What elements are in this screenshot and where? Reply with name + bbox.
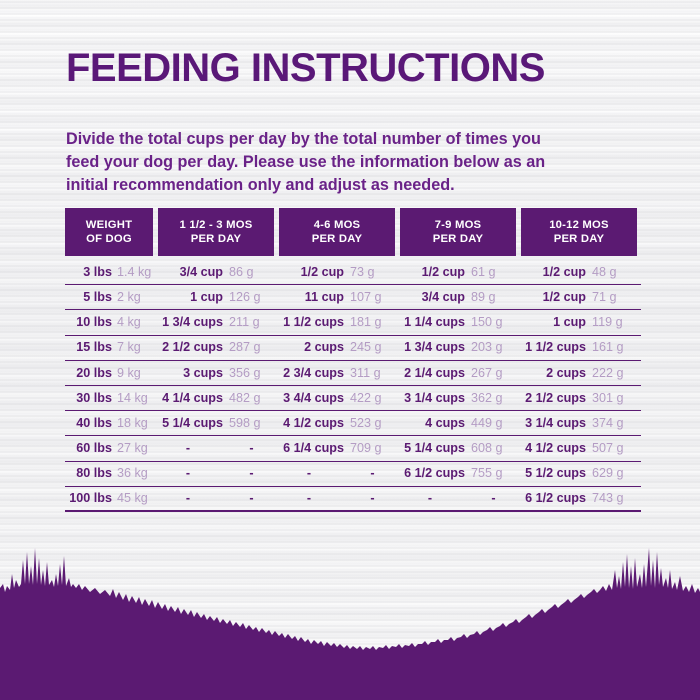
cell-grams-col2: 523 g [350, 417, 395, 430]
header-line-2: OF DOG [86, 232, 132, 246]
cell-grams-col3: 449 g [471, 417, 516, 430]
cell-cups-col4: 3 1/4 cups [516, 417, 592, 430]
cell-grams-col4: 743 g [592, 492, 637, 505]
cell-cups-col3: 4 cups [395, 417, 471, 430]
cell-weight-kg: 14 kg [117, 392, 153, 405]
cell-weight-kg: 1.4 kg [117, 266, 153, 279]
cell-cups-col3: 6 1/2 cups [395, 467, 471, 480]
cell-cups-col1: 1 cup [153, 291, 229, 304]
cell-grams-col1: 211 g [229, 316, 274, 329]
cell-cups-col4: 1 1/2 cups [516, 341, 592, 354]
feeding-instructions-page: FEEDING INSTRUCTIONS Divide the total cu… [0, 0, 700, 700]
cell-grams-col2: 422 g [350, 392, 395, 405]
cell-cups-col4: 1/2 cup [516, 291, 592, 304]
cell-weight-lbs: 10 lbs [65, 316, 117, 329]
cell-cups-col3: 1/2 cup [395, 266, 471, 279]
cell-cups-col4: 1/2 cup [516, 266, 592, 279]
cell-grams-col4: 222 g [592, 367, 637, 380]
table-header-weight: WEIGHT OF DOG [65, 208, 153, 256]
cell-grams-col4: 71 g [592, 291, 637, 304]
cell-grams-col4: 301 g [592, 392, 637, 405]
cell-grams-col1: - [229, 442, 274, 455]
cell-grams-col1: 126 g [229, 291, 274, 304]
table-row: 30 lbs14 kg4 1/4 cups482 g3 4/4 cups422 … [65, 386, 641, 411]
cell-cups-col4: 4 1/2 cups [516, 442, 592, 455]
table-row: 15 lbs7 kg2 1/2 cups287 g2 cups245 g1 3/… [65, 336, 641, 361]
header-line-2: PER DAY [191, 232, 242, 246]
cell-grams-col3: 89 g [471, 291, 516, 304]
cell-grams-col3: 150 g [471, 316, 516, 329]
cell-weight-lbs: 40 lbs [65, 417, 117, 430]
feeding-table: WEIGHT OF DOG 1 1/2 - 3 MOS PER DAY 4-6 … [65, 208, 641, 512]
header-line-1: 10-12 MOS [549, 218, 609, 232]
table-header-7-9-mos: 7-9 MOS PER DAY [400, 208, 516, 256]
cell-grams-col4: 374 g [592, 417, 637, 430]
cell-cups-col4: 1 cup [516, 316, 592, 329]
table-row: 60 lbs27 kg--6 1/4 cups709 g5 1/4 cups60… [65, 436, 641, 461]
table-row: 20 lbs9 kg3 cups356 g2 3/4 cups311 g2 1/… [65, 361, 641, 386]
cell-grams-col1: - [229, 492, 274, 505]
cell-cups-col1: 3 cups [153, 367, 229, 380]
intro-paragraph: Divide the total cups per day by the tot… [66, 128, 578, 197]
cell-grams-col2: 107 g [350, 291, 395, 304]
cell-weight-kg: 7 kg [117, 341, 153, 354]
cell-grams-col2: 181 g [350, 316, 395, 329]
header-line-2: PER DAY [312, 232, 363, 246]
cell-weight-kg: 18 kg [117, 417, 153, 430]
cell-grams-col4: 48 g [592, 266, 637, 279]
cell-cups-col1: 3/4 cup [153, 266, 229, 279]
cell-weight-lbs: 60 lbs [65, 442, 117, 455]
cell-cups-col2: 2 cups [274, 341, 350, 354]
cell-grams-col4: 629 g [592, 467, 637, 480]
cell-grams-col3: 608 g [471, 442, 516, 455]
cell-weight-lbs: 30 lbs [65, 392, 117, 405]
cell-grams-col2: 73 g [350, 266, 395, 279]
cell-cups-col1: - [153, 492, 229, 505]
cell-grams-col4: 119 g [592, 316, 637, 329]
table-header-row: WEIGHT OF DOG 1 1/2 - 3 MOS PER DAY 4-6 … [65, 208, 641, 256]
cell-grams-col1: - [229, 467, 274, 480]
table-header-4-6-mos: 4-6 MOS PER DAY [279, 208, 395, 256]
cell-cups-col2: - [274, 492, 350, 505]
table-header-1-5-to-3-mos: 1 1/2 - 3 MOS PER DAY [158, 208, 274, 256]
cell-cups-col1: 4 1/4 cups [153, 392, 229, 405]
cell-weight-lbs: 5 lbs [65, 291, 117, 304]
cell-weight-kg: 2 kg [117, 291, 153, 304]
cell-cups-col3: 3 1/4 cups [395, 392, 471, 405]
cell-cups-col1: 2 1/2 cups [153, 341, 229, 354]
cell-grams-col1: 287 g [229, 341, 274, 354]
cell-grams-col3: 755 g [471, 467, 516, 480]
header-line-1: 4-6 MOS [314, 218, 361, 232]
cell-weight-kg: 36 kg [117, 467, 153, 480]
cell-weight-lbs: 15 lbs [65, 341, 117, 354]
cell-cups-col2: 2 3/4 cups [274, 367, 350, 380]
cell-weight-kg: 45 kg [117, 492, 153, 505]
cell-cups-col2: 6 1/4 cups [274, 442, 350, 455]
cell-weight-lbs: 3 lbs [65, 266, 117, 279]
cell-cups-col4: 2 1/2 cups [516, 392, 592, 405]
cell-grams-col1: 86 g [229, 266, 274, 279]
table-row: 40 lbs18 kg5 1/4 cups598 g4 1/2 cups523 … [65, 411, 641, 436]
cell-weight-kg: 4 kg [117, 316, 153, 329]
header-line-2: PER DAY [433, 232, 484, 246]
table-row: 5 lbs2 kg1 cup126 g11 cup107 g3/4 cup89 … [65, 285, 641, 310]
cell-cups-col2: 11 cup [274, 291, 350, 304]
cell-cups-col4: 2 cups [516, 367, 592, 380]
table-body: 3 lbs1.4 kg3/4 cup86 g1/2 cup73 g1/2 cup… [65, 260, 641, 512]
cell-grams-col3: - [471, 492, 516, 505]
cell-grams-col2: 245 g [350, 341, 395, 354]
cell-cups-col3: 3/4 cup [395, 291, 471, 304]
cell-cups-col2: 1 1/2 cups [274, 316, 350, 329]
cell-cups-col1: 5 1/4 cups [153, 417, 229, 430]
cell-grams-col2: 709 g [350, 442, 395, 455]
table-row: 100 lbs45 kg------6 1/2 cups743 g [65, 487, 641, 512]
cell-cups-col2: 1/2 cup [274, 266, 350, 279]
cell-cups-col3: 1 1/4 cups [395, 316, 471, 329]
cell-cups-col1: - [153, 442, 229, 455]
cell-grams-col2: - [350, 467, 395, 480]
cell-cups-col1: 1 3/4 cups [153, 316, 229, 329]
table-row: 10 lbs4 kg1 3/4 cups211 g1 1/2 cups181 g… [65, 310, 641, 335]
header-line-1: 1 1/2 - 3 MOS [180, 218, 253, 232]
cell-weight-kg: 27 kg [117, 442, 153, 455]
cell-grams-col4: 507 g [592, 442, 637, 455]
cell-cups-col2: 4 1/2 cups [274, 417, 350, 430]
cell-cups-col3: 1 3/4 cups [395, 341, 471, 354]
cell-grams-col3: 203 g [471, 341, 516, 354]
cell-grams-col4: 161 g [592, 341, 637, 354]
cell-cups-col1: - [153, 467, 229, 480]
cell-weight-lbs: 100 lbs [65, 492, 117, 505]
cell-cups-col2: - [274, 467, 350, 480]
cell-grams-col3: 61 g [471, 266, 516, 279]
cell-grams-col1: 482 g [229, 392, 274, 405]
table-header-10-12-mos: 10-12 MOS PER DAY [521, 208, 637, 256]
cell-cups-col2: 3 4/4 cups [274, 392, 350, 405]
header-line-2: PER DAY [554, 232, 605, 246]
table-row: 80 lbs36 kg----6 1/2 cups755 g5 1/2 cups… [65, 462, 641, 487]
cell-cups-col4: 5 1/2 cups [516, 467, 592, 480]
grass-silhouette-icon [0, 540, 700, 700]
table-row: 3 lbs1.4 kg3/4 cup86 g1/2 cup73 g1/2 cup… [65, 260, 641, 285]
cell-grams-col1: 356 g [229, 367, 274, 380]
cell-grams-col2: - [350, 492, 395, 505]
header-line-1: WEIGHT [86, 218, 132, 232]
cell-cups-col4: 6 1/2 cups [516, 492, 592, 505]
header-line-1: 7-9 MOS [435, 218, 482, 232]
cell-cups-col3: 2 1/4 cups [395, 367, 471, 380]
cell-grams-col2: 311 g [350, 367, 395, 380]
cell-weight-lbs: 80 lbs [65, 467, 117, 480]
cell-grams-col3: 267 g [471, 367, 516, 380]
cell-cups-col3: 5 1/4 cups [395, 442, 471, 455]
cell-cups-col3: - [395, 492, 471, 505]
cell-grams-col1: 598 g [229, 417, 274, 430]
cell-weight-kg: 9 kg [117, 367, 153, 380]
page-title: FEEDING INSTRUCTIONS [66, 48, 545, 88]
cell-weight-lbs: 20 lbs [65, 367, 117, 380]
cell-grams-col3: 362 g [471, 392, 516, 405]
